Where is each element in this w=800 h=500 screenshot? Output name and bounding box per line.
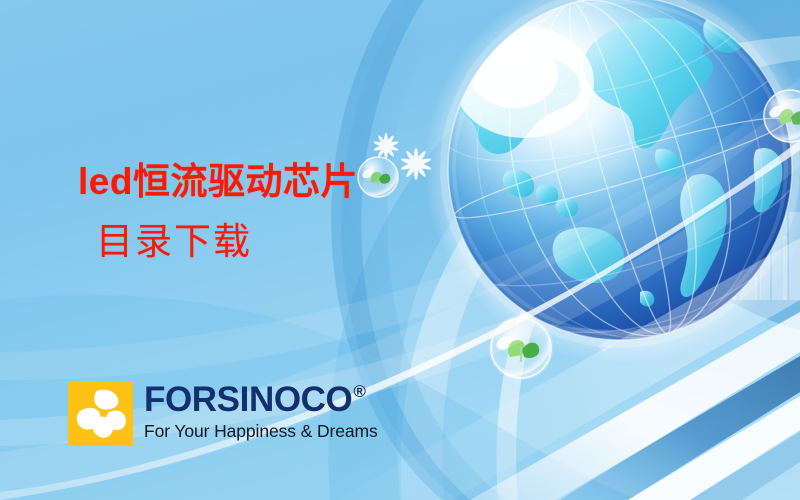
four-petal-pinwheel-icon [68, 381, 133, 446]
promo-banner: led恒流驱动芯片 目录下载 FORSINOCO ® [0, 0, 800, 500]
headline-line-1: led恒流驱动芯片 [78, 160, 358, 204]
logo-wordmark-text: FORSINOCO [144, 382, 352, 417]
registered-trademark-mark: ® [353, 383, 365, 400]
headline-line-2: 目录下载 [96, 220, 358, 264]
headline: led恒流驱动芯片 目录下载 [78, 160, 358, 263]
logo-wordmark: FORSINOCO ® [144, 382, 378, 417]
logo-tagline: For Your Happiness & Dreams [144, 423, 378, 441]
logo-text-block: FORSINOCO ® For Your Happiness & Dreams [144, 381, 378, 441]
brand-logo: FORSINOCO ® For Your Happiness & Dreams [68, 381, 378, 446]
